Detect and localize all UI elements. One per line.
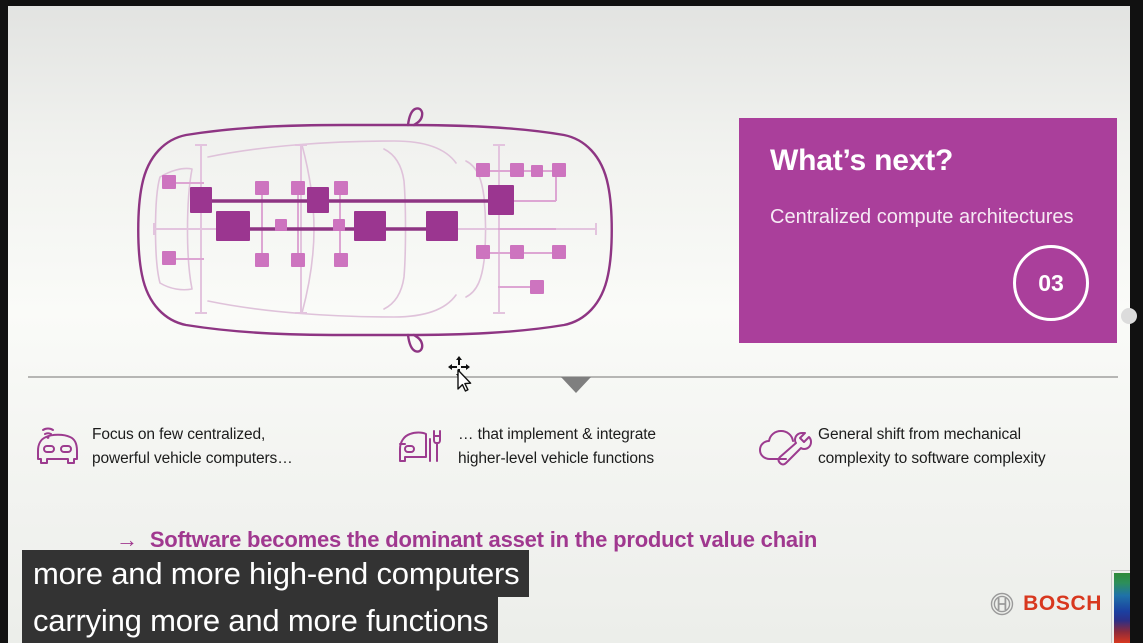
whats-next-callout-card: What’s next? Centralized compute archite… [739,118,1117,343]
bullet-row: Focus on few centralized, powerful vehic… [8,423,1130,493]
vehicle-ecu-topology-diagram [126,105,626,353]
bosch-anchor-icon [990,592,1014,616]
bosch-wordmark: BOSCH [1023,592,1102,616]
caption-line: more and more high-end computers [22,550,529,597]
mouse-cursor [446,356,480,392]
bullet-item: General shift from mechanical complexity… [756,423,1046,470]
caption-overlay: more and more high-end computers carryin… [22,550,529,643]
car-wrench-icon [396,425,448,469]
bullet-item: Focus on few centralized, powerful vehic… [30,423,293,470]
bullet-item: … that implement & integrate higher-leve… [396,423,656,470]
video-player-screen: What’s next? Centralized compute archite… [0,0,1143,643]
presentation-slide: What’s next? Centralized compute archite… [8,5,1130,643]
bosch-supergraphic-stripe [1114,573,1130,643]
bullet-text: Focus on few centralized, powerful vehic… [92,423,293,470]
cloud-wrench-icon [756,425,808,469]
collapse-down-arrow-icon [561,377,591,393]
bullet-text: General shift from mechanical complexity… [818,423,1046,470]
callout-title: What’s next? [770,144,953,178]
letterbox-top-bar [0,0,1143,6]
bullet-text: … that implement & integrate higher-leve… [458,423,656,470]
bosch-logo: BOSCH [990,592,1102,616]
caption-line: carrying more and more functions [22,597,498,643]
connected-car-icon [30,425,82,469]
player-seek-handle[interactable] [1121,308,1137,324]
letterbox-left-bar [0,0,8,643]
callout-step-number: 03 [1013,245,1089,321]
callout-subtitle: Centralized compute architectures [770,202,1073,232]
